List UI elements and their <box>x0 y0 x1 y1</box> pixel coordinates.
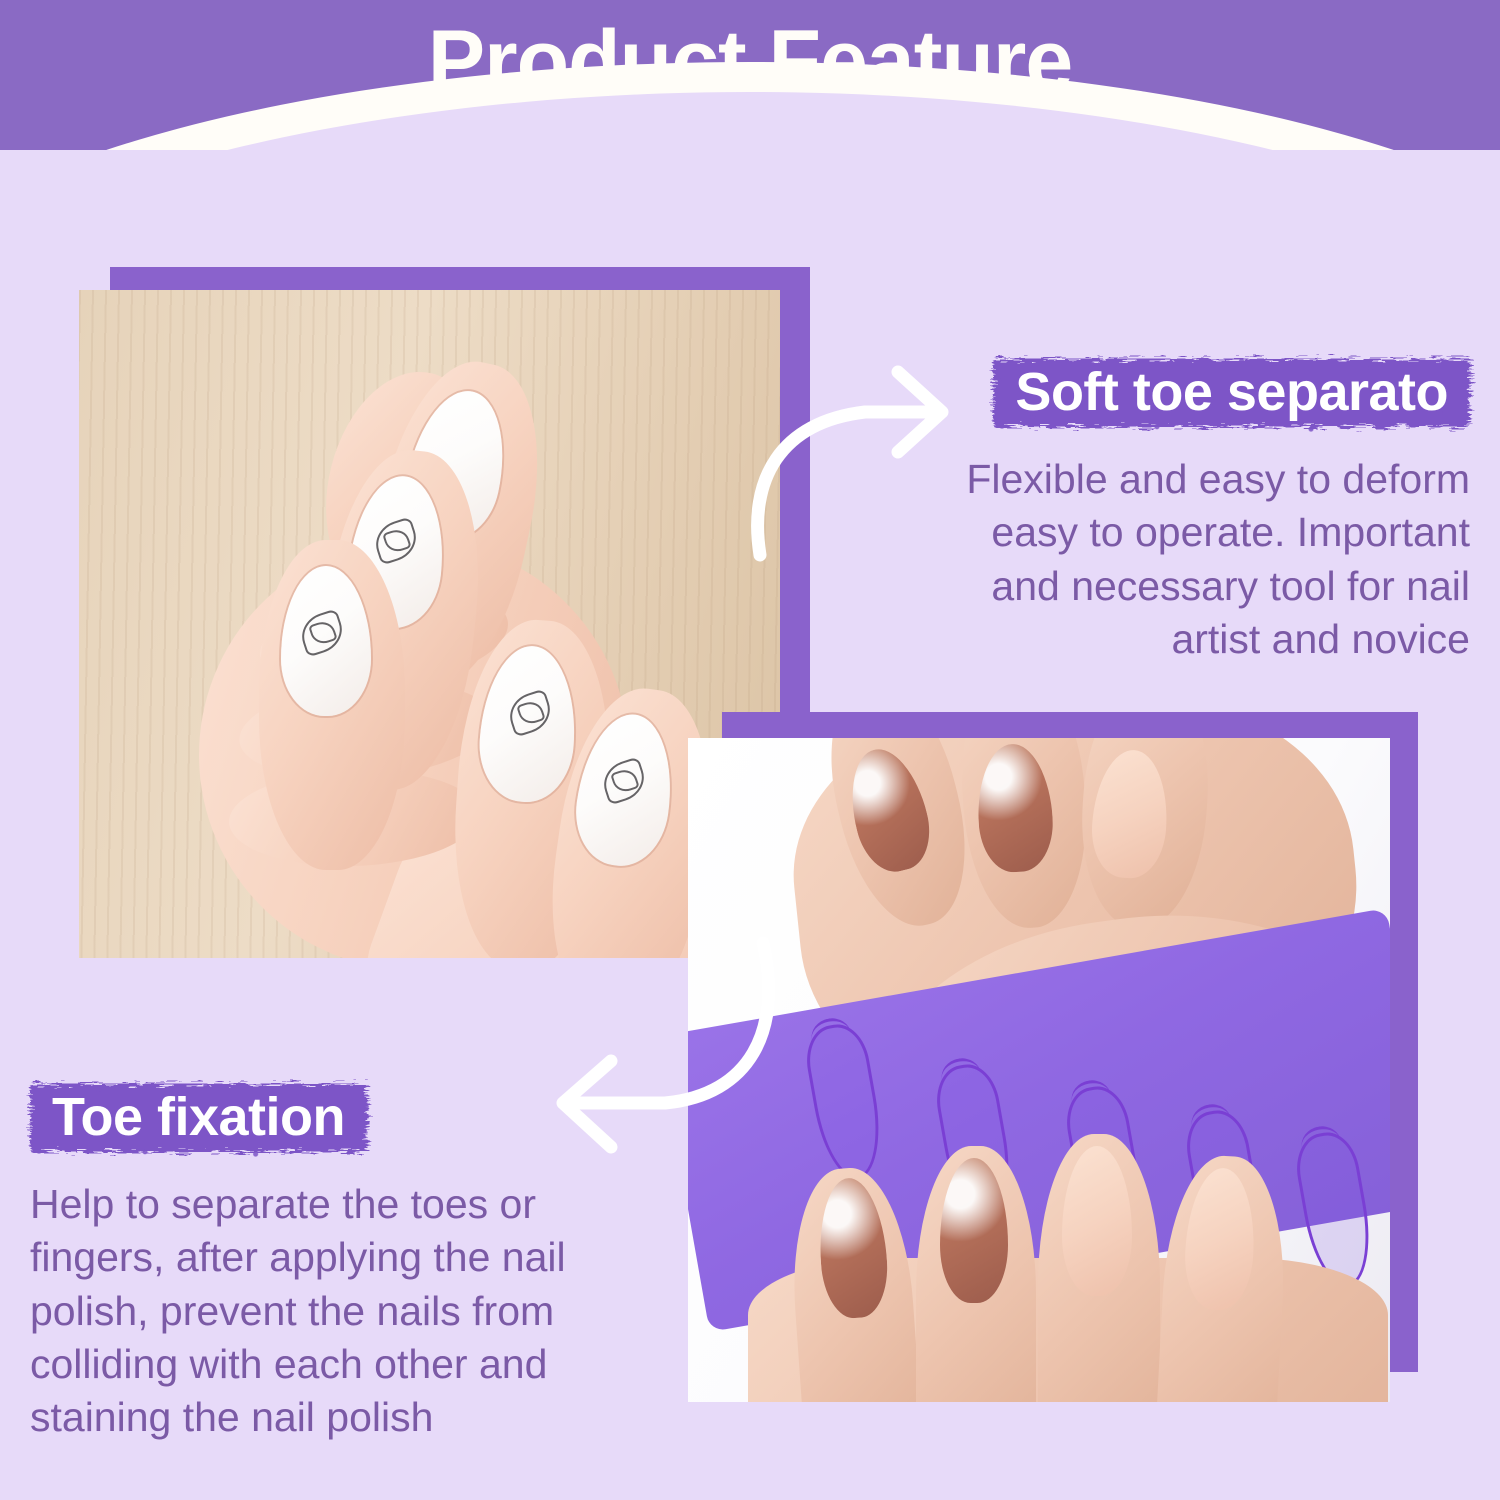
feature-block-soft-toe-separator: Soft toe separato Flexible and easy to d… <box>930 355 1470 666</box>
top-feature-photo <box>79 290 780 958</box>
feature-block-toe-fixation: Toe fixation Help to separate the toes o… <box>30 1080 590 1444</box>
bottom-feature-photo <box>688 738 1390 1402</box>
product-feature-page: Product Feature <box>0 0 1500 1500</box>
feature-body-1: Flexible and easy to deform easy to oper… <box>930 453 1470 666</box>
feature-heading-2: Toe fixation <box>52 1087 345 1147</box>
feature-heading-1: Soft toe separato <box>1015 362 1448 422</box>
page-title: Product Feature <box>0 12 1500 111</box>
feature-heading-badge-2: Toe fixation <box>30 1080 367 1158</box>
feature-heading-badge-1: Soft toe separato <box>993 355 1470 433</box>
feature-body-2: Help to separate the toes or fingers, af… <box>30 1178 590 1444</box>
